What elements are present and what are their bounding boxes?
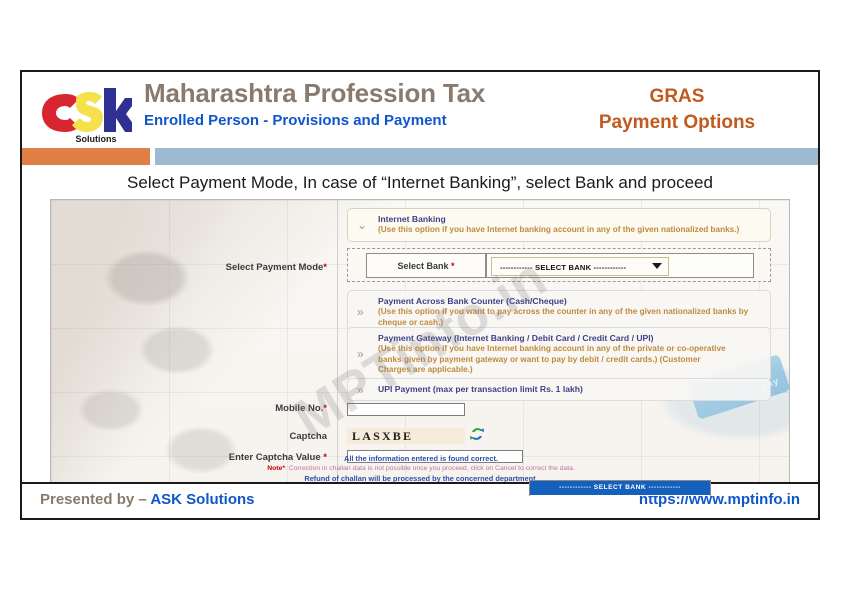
option-title: Payment Across Bank Counter (Cash/Cheque… [378,296,762,307]
option-title: UPI Payment (max per transaction limit R… [378,384,762,395]
label-captcha: Captcha [151,431,327,442]
label-select-payment-mode: Select Payment Mode* [151,262,327,273]
select-bank-label-text: Select Bank [397,261,448,271]
option-description: (Use this option if you have Internet ba… [378,225,762,236]
chevron-double-right-icon: » [357,348,364,360]
mobile-no-input[interactable] [347,403,465,416]
bank-option[interactable]: ------------ SELECT BANK ------------ [530,481,710,495]
payment-option-payment-gateway[interactable]: » Payment Gateway (Internet Banking / De… [347,327,771,382]
select-bank-label-cell: Select Bank * [366,253,486,278]
option-title: Payment Gateway (Internet Banking / Debi… [378,333,762,344]
option-charges-warning: Charges are applicable.) [378,365,762,376]
captcha-text: LASXBE [347,428,465,444]
divider-blue-bar [155,148,818,165]
logo-subtext: Solutions [76,134,117,144]
select-bank-row: Select Bank * ------------ SELECT BANK -… [347,248,771,282]
gras-line-1: GRAS [562,84,792,110]
note-line-2: Note*: Correction in challan data is not… [171,464,671,474]
bank-dropdown-list[interactable]: ------------ SELECT BANK ------------AND… [529,480,711,497]
label-mobile-no: Mobile No.* [151,403,327,414]
embedded-screenshot: pay Select Payment Mode* Mobile No.* Cap… [50,199,790,497]
select-payment-mode-text: Select Payment Mode [226,262,324,273]
page-title: Maharashtra Profession Tax [144,78,485,108]
option-description: (Use this option if you have Internet ba… [378,344,762,355]
chevron-down-icon [652,263,662,269]
form-column-divider [337,200,338,496]
required-asterisk: * [451,261,455,271]
payment-option-internet-banking[interactable]: ⌄ Internet Banking (Use this option if y… [347,208,771,242]
gras-heading: GRAS Payment Options [562,84,792,136]
select-bank-dropdown-button[interactable]: ------------ SELECT BANK ------------ [491,257,669,276]
chevron-double-right-icon: » [357,384,364,396]
select-bank-label: Select Bank * [367,254,485,279]
select-bank-selected-value: ------------ SELECT BANK ------------ [492,258,668,277]
note-label: Note* [267,465,285,472]
footer-prefix: Presented by – [40,491,150,508]
footer-presented-by: Presented by – ASK Solutions [40,491,255,508]
required-asterisk: * [323,403,327,414]
note-line-2-text: : Correction in challan data is not poss… [285,465,575,472]
option-description-2: banks given by payment gateway or want t… [378,355,762,366]
slide-caption: Select Payment Mode, In case of “Interne… [22,165,818,199]
mobile-no-text: Mobile No. [275,403,323,414]
select-bank-field-cell: ------------ SELECT BANK ------------ [486,253,754,278]
header-title-block: Maharashtra Profession Tax Enrolled Pers… [144,78,485,131]
captcha-image: LASXBE [347,428,465,444]
option-description: (Use this option if you want to pay acro… [378,307,762,328]
gras-line-2: Payment Options [562,110,792,136]
refresh-icon[interactable] [469,426,485,447]
note-line-1: All the information entered is found cor… [171,454,671,464]
payment-option-upi[interactable]: » UPI Payment (max per transaction limit… [347,378,771,401]
footer-brand: ASK Solutions [150,491,254,508]
slide-header: Solutions Maharashtra Profession Tax Enr… [22,72,818,148]
divider-orange-block [22,148,150,165]
logo-mark: Solutions [36,82,132,144]
ask-solutions-logo: Solutions [36,82,132,144]
slide-frame: Solutions Maharashtra Profession Tax Enr… [20,70,820,520]
header-divider [22,148,818,165]
chevron-double-right-icon: » [357,306,364,318]
chevron-double-down-icon: ⌄ [357,219,367,231]
option-title: Internet Banking [378,214,762,225]
required-asterisk: * [323,262,327,273]
page-subtitle: Enrolled Person - Provisions and Payment [144,111,485,131]
